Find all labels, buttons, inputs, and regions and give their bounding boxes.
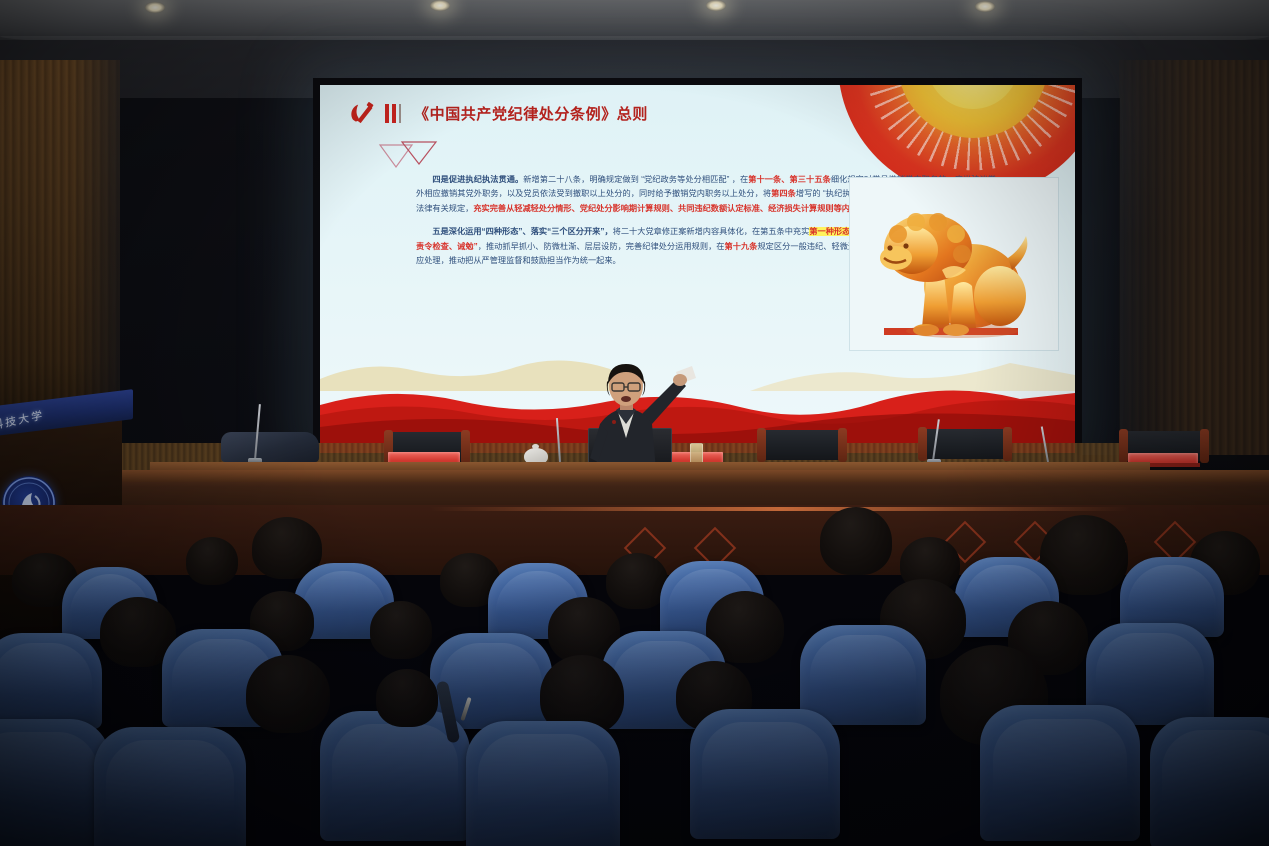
p4-run-2: 第十一条、第三十五条 <box>748 175 831 184</box>
downlight-3 <box>706 0 726 11</box>
auditorium-seat <box>1150 717 1269 846</box>
auditorium-seat <box>690 709 840 839</box>
p5-run-5: ，推动抓早抓小、防微杜渐、层层设防，完善纪律处分运用规则，在 <box>478 242 725 251</box>
auditorium-seat <box>466 721 620 846</box>
audience-head <box>370 601 432 659</box>
auditorium-seat <box>800 625 926 725</box>
flying-doves-icon <box>973 85 1075 87</box>
downlight-4 <box>975 1 995 12</box>
slide-header: 《中国共产党纪律处分条例》总则 <box>348 101 648 125</box>
auditorium-seat <box>94 727 246 846</box>
p4-run-1: 新增第二十八条，明确规定做到 “党纪政务等处分相匹配” ，在 <box>523 175 748 184</box>
p5-run-0: 五是深化运用“四种形态”、落实“三个区分开来”， <box>432 227 612 236</box>
dais-lip <box>0 470 1269 482</box>
presenter <box>556 362 706 472</box>
stage-chair-2 <box>762 430 842 460</box>
audience-head <box>246 655 330 733</box>
wall-light-strip <box>430 507 1130 511</box>
p4-run-0: 四是促进执纪执法贯通。 <box>432 175 523 184</box>
audience-area <box>0 505 1269 846</box>
downlight-1 <box>145 2 165 13</box>
slide-title: 《中国共产党纪律处分条例》总则 <box>414 103 648 124</box>
audience-head <box>606 553 668 609</box>
hammer-and-sickle-emblem-icon <box>348 101 375 125</box>
wall-wood-right <box>1119 60 1269 490</box>
draped-jacket <box>221 432 319 462</box>
p4-run-4: 第四条 <box>771 189 796 198</box>
title-divider <box>385 104 401 123</box>
lecture-hall-scene: 《中国共产党纪律处分条例》总则 四是促进执纪执法贯通。新增第二十八条，明确规定做… <box>0 0 1269 846</box>
triangle-deco-icon <box>378 139 438 171</box>
golden-guardian-lion-statue-image <box>849 177 1059 351</box>
audience-head <box>376 669 438 727</box>
p5-run-6: 第十九条 <box>725 242 758 251</box>
audience-head <box>186 537 238 585</box>
audience-head <box>820 507 892 575</box>
p5-run-1: 将二十大党章修正案新增内容具体化，在第五条中充实 <box>613 227 810 236</box>
downlight-2 <box>430 0 450 11</box>
p4-run-6: 充实完善从轻减轻处分情形、党纪处分影响期计算规则、共同违纪数额认定标准、经济损失… <box>473 204 866 213</box>
auditorium-seat <box>0 633 102 729</box>
auditorium-seat <box>980 705 1140 841</box>
